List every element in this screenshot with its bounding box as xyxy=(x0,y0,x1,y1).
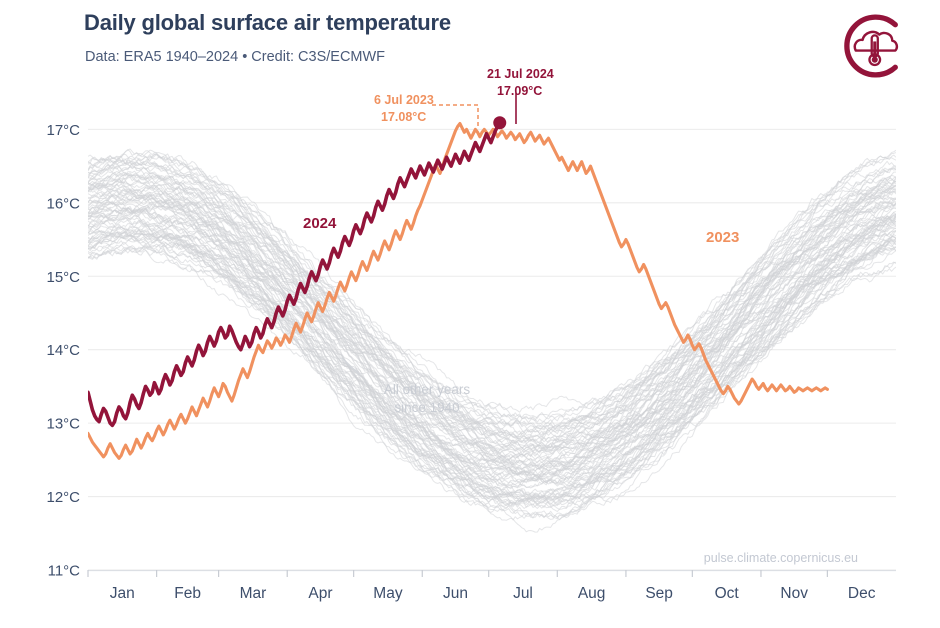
x-axis-labels: JanFebMarAprMayJunJulAugSepOctNovDec xyxy=(110,585,876,602)
x-tick-label-oct: Oct xyxy=(715,585,740,602)
peak-2024-marker xyxy=(493,116,506,129)
x-tick-label-jun: Jun xyxy=(443,585,468,602)
x-tick-label-dec: Dec xyxy=(848,585,876,602)
y-tick-label: 17°C xyxy=(46,122,80,139)
other-years-note-line1: All other years xyxy=(384,382,471,397)
chart-page: Daily global surface air temperature Dat… xyxy=(0,0,940,628)
x-tick-label-apr: Apr xyxy=(308,585,332,602)
x-tick-label-nov: Nov xyxy=(780,585,808,602)
x-tick-label-may: May xyxy=(373,585,403,602)
y-tick-label: 13°C xyxy=(46,416,80,433)
peak-2024-value: 17.09°C xyxy=(497,84,542,98)
peak-2023-value: 17.08°C xyxy=(381,110,426,124)
y-axis-labels: 11°C12°C13°C14°C15°C16°C17°C xyxy=(46,122,80,580)
gridlines xyxy=(88,129,896,570)
peak-2023-leader-line xyxy=(432,105,478,127)
series-label-2024: 2024 xyxy=(303,215,337,232)
peak-2023-date: 6 Jul 2023 xyxy=(374,93,434,107)
y-tick-label: 15°C xyxy=(46,269,80,286)
y-tick-label: 14°C xyxy=(46,342,80,359)
y-tick-label: 11°C xyxy=(48,563,81,580)
x-tick-label-aug: Aug xyxy=(578,585,606,602)
series-label-2023: 2023 xyxy=(706,229,739,246)
x-tick-label-mar: Mar xyxy=(240,585,267,602)
x-tick-label-jan: Jan xyxy=(110,585,135,602)
other-years-note-line2: since 1940 xyxy=(394,400,459,415)
x-tick-label-feb: Feb xyxy=(174,585,201,602)
y-tick-label: 16°C xyxy=(46,195,80,212)
y-tick-label: 12°C xyxy=(46,489,80,506)
watermark: pulse.climate.copernicus.eu xyxy=(704,551,858,565)
other-year-line xyxy=(88,158,896,435)
temperature-chart: 11°C12°C13°C14°C15°C16°C17°C JanFebMarAp… xyxy=(0,0,940,628)
x-tick-label-jul: Jul xyxy=(513,585,533,602)
peak-2024-date: 21 Jul 2024 xyxy=(487,67,554,81)
x-tick-label-sep: Sep xyxy=(645,585,673,602)
